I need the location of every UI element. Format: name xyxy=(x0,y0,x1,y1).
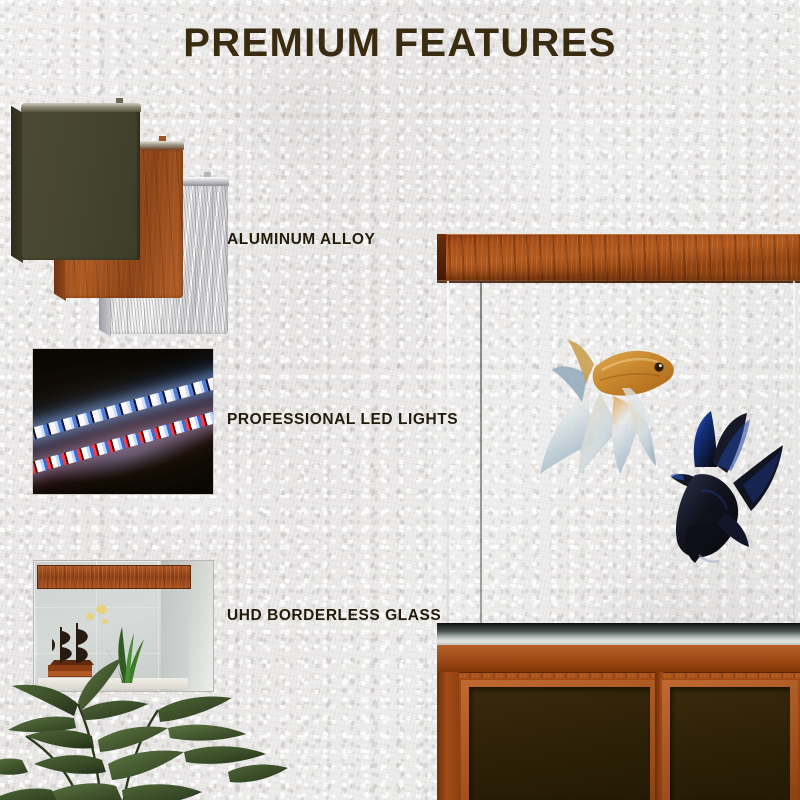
feature-label-aluminum-alloy: ALUMINUM ALLOY xyxy=(227,231,375,249)
cabinet-door-right-panel xyxy=(670,687,790,800)
glass-photo-hood xyxy=(37,565,191,589)
aquarium-hood xyxy=(437,234,800,283)
panel-black-matte xyxy=(22,110,140,260)
panel-black-cap xyxy=(21,103,141,112)
feature-thumbnail-led-lights xyxy=(32,348,214,495)
cabinet-left-post xyxy=(437,672,459,800)
aquarium-hood-left-cap xyxy=(437,234,446,280)
product-feature-poster: PREMIUM FEATURES ALUMINUM ALLOY xyxy=(0,0,800,800)
cabinet-door-right[interactable] xyxy=(660,678,800,800)
glass-edge-front-left xyxy=(447,281,449,623)
glass-edge-right xyxy=(793,281,795,623)
panel-black-face xyxy=(22,110,140,260)
foreground-houseplant xyxy=(0,640,292,800)
cabinet-door-left-panel xyxy=(469,687,650,800)
cabinet-top-bevel xyxy=(437,645,800,673)
blue-black-betta-fish xyxy=(655,405,790,570)
glass-edge-back-left xyxy=(480,281,482,623)
cabinet-door-left[interactable] xyxy=(459,678,660,800)
page-title: PREMIUM FEATURES xyxy=(0,21,800,66)
glass-photo-bubble-1 xyxy=(96,605,107,614)
feature-label-led-lights: PROFESSIONAL LED LIGHTS xyxy=(227,411,458,429)
feature-label-borderless-glass: UHD BORDERLESS GLASS xyxy=(227,607,441,625)
feature-thumbnail-aluminum-alloy xyxy=(18,96,218,292)
